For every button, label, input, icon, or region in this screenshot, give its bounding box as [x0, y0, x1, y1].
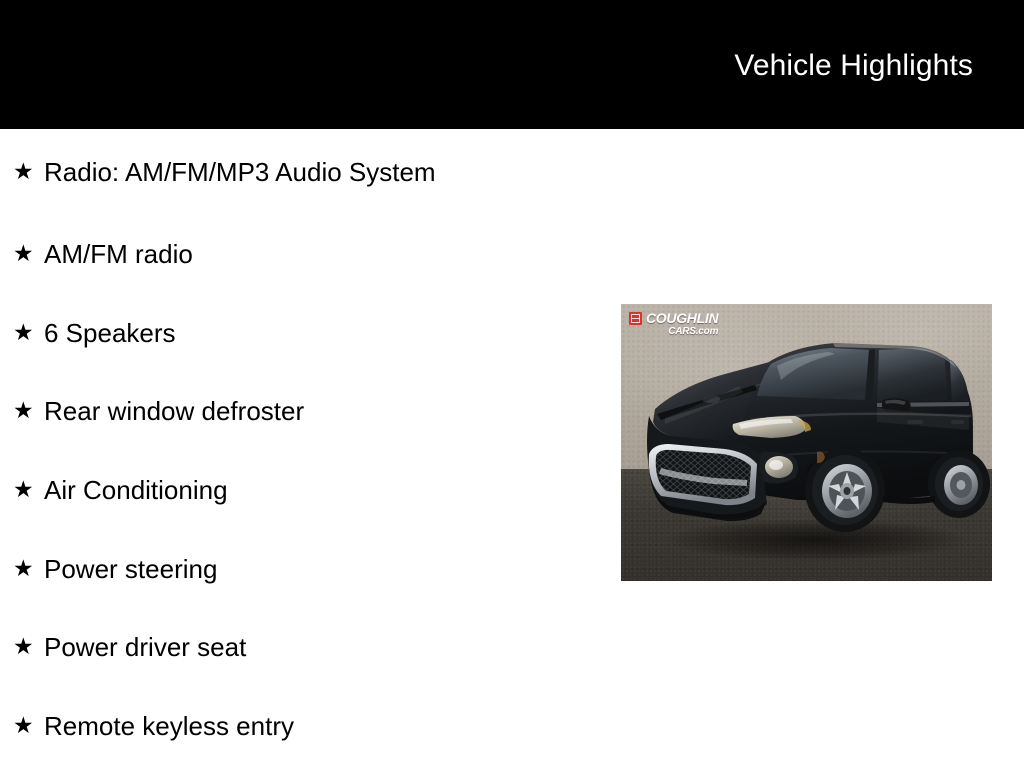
list-item: ★ Power steering	[0, 529, 620, 608]
star-icon: ★	[13, 242, 37, 265]
star-icon: ★	[13, 160, 37, 183]
list-item: ★ AM/FM radio	[0, 215, 620, 294]
list-item: ★ Rear window defroster	[0, 372, 620, 451]
header-banner: Vehicle Highlights	[0, 0, 1024, 129]
list-item: ★ Radio: AM/FM/MP3 Audio System	[0, 129, 620, 215]
vehicle-image[interactable]: COUGHLIN CARS.com	[621, 304, 992, 581]
star-icon: ★	[13, 400, 37, 423]
star-icon: ★	[13, 714, 37, 737]
star-icon: ★	[13, 635, 37, 658]
list-item: ★ Power driver seat	[0, 608, 620, 687]
list-item: ★ 6 Speakers	[0, 294, 620, 373]
coughlin-logo-icon	[629, 312, 642, 325]
car-illustration	[621, 304, 992, 581]
star-icon: ★	[13, 321, 37, 344]
star-icon: ★	[13, 557, 37, 580]
highlight-label: Radio: AM/FM/MP3 Audio System	[44, 157, 436, 187]
highlight-label: AM/FM radio	[44, 239, 193, 269]
vehicle-highlights-list: ★ Radio: AM/FM/MP3 Audio System ★ AM/FM …	[0, 129, 620, 765]
highlight-label: Air Conditioning	[44, 475, 228, 505]
list-item: ★ Air Conditioning	[0, 451, 620, 530]
list-item: ★ Remote keyless entry	[0, 687, 620, 766]
highlight-label: 6 Speakers	[44, 318, 176, 348]
dealer-text: COUGHLIN CARS.com	[646, 311, 718, 337]
highlight-label: Rear window defroster	[44, 396, 304, 426]
page-title: Vehicle Highlights	[734, 49, 973, 83]
highlight-label: Power steering	[44, 554, 217, 584]
dealer-watermark: COUGHLIN CARS.com	[629, 311, 718, 337]
dealer-domain: CARS.com	[646, 327, 718, 337]
dealer-brand-name: COUGHLIN	[646, 311, 718, 325]
highlight-label: Power driver seat	[44, 632, 246, 662]
star-icon: ★	[13, 478, 37, 501]
highlight-label: Remote keyless entry	[44, 711, 294, 741]
